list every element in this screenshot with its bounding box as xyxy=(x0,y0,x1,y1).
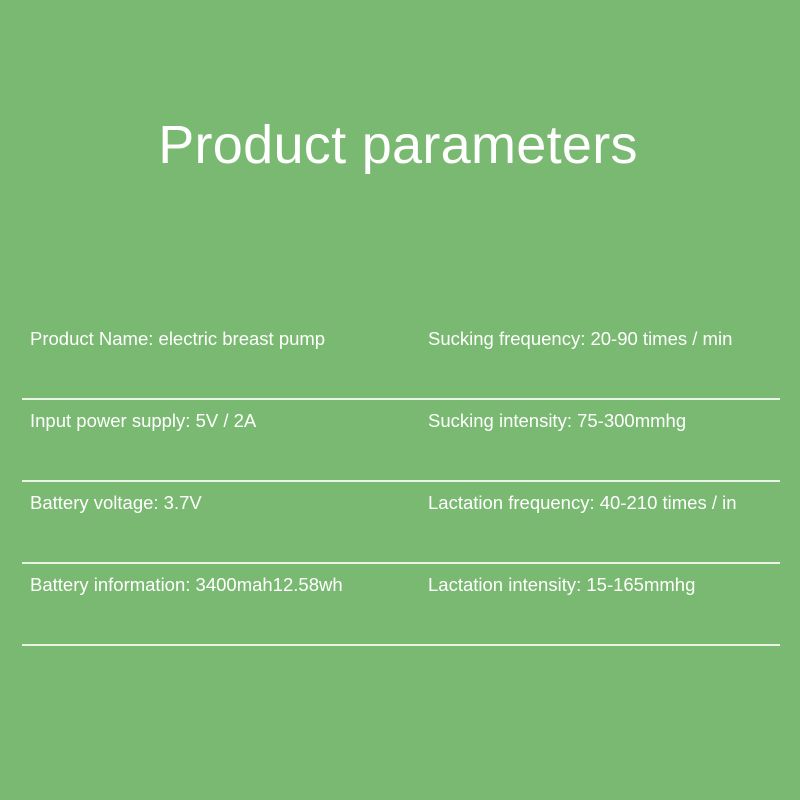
spec-cell-left: Battery information: 3400mah12.58wh xyxy=(30,572,430,598)
spec-row: Product Name: electric breast pump Sucki… xyxy=(22,318,780,400)
spec-row: Battery information: 3400mah12.58wh Lact… xyxy=(22,564,780,646)
spec-row-inner: Product Name: electric breast pump Sucki… xyxy=(22,318,780,398)
spec-row: Battery voltage: 3.7V Lactation frequenc… xyxy=(22,482,780,564)
product-parameters-page: Product parameters Product Name: electri… xyxy=(0,0,800,800)
spec-row-inner: Battery information: 3400mah12.58wh Lact… xyxy=(22,564,780,644)
spec-cell-left: Product Name: electric breast pump xyxy=(30,326,430,352)
spec-cell-left: Battery voltage: 3.7V xyxy=(30,490,430,516)
spec-row-inner: Battery voltage: 3.7V Lactation frequenc… xyxy=(22,482,780,562)
page-title: Product parameters xyxy=(0,112,800,178)
spec-cell-left: Input power supply: 5V / 2A xyxy=(30,408,430,434)
row-divider xyxy=(22,644,780,646)
spec-cell-right: Sucking frequency: 20-90 times / min xyxy=(428,326,800,352)
spec-cell-right: Lactation intensity: 15-165mmhg xyxy=(428,572,800,598)
spec-cell-right: Lactation frequency: 40-210 times / in xyxy=(428,490,800,516)
spec-row: Input power supply: 5V / 2A Sucking inte… xyxy=(22,400,780,482)
spec-cell-right: Sucking intensity: 75-300mmhg xyxy=(428,408,800,434)
spec-table: Product Name: electric breast pump Sucki… xyxy=(22,318,780,646)
spec-row-inner: Input power supply: 5V / 2A Sucking inte… xyxy=(22,400,780,480)
